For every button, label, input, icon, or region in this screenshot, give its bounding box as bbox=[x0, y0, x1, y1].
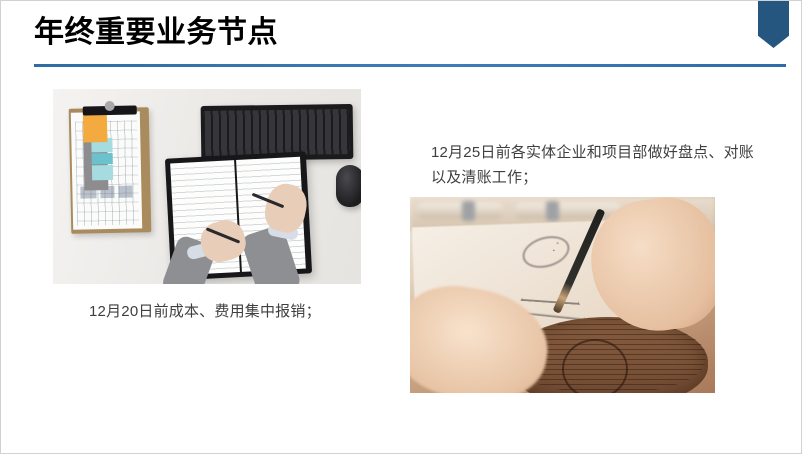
sketching-hands-photo bbox=[410, 197, 715, 393]
roll-cap bbox=[546, 201, 559, 221]
blueprint-block bbox=[118, 186, 132, 198]
keyboard-keys bbox=[205, 109, 350, 156]
clipboard-object bbox=[69, 107, 152, 234]
left-caption-text: 12月20日前成本、费用集中报销； bbox=[89, 299, 379, 324]
roll-cap bbox=[462, 201, 475, 221]
desk-workspace-photo bbox=[53, 89, 361, 284]
sticky-note-cyan bbox=[92, 153, 113, 164]
paper-roll bbox=[514, 203, 622, 219]
slide-canvas: 年终重要业务节点 bbox=[0, 0, 802, 454]
sticky-note-orange bbox=[83, 114, 108, 142]
sketched-circle bbox=[562, 339, 628, 393]
mouse-object bbox=[336, 165, 361, 207]
sticky-note-cyan bbox=[92, 165, 113, 180]
right-caption-text: 12月25日前各实体企业和项目部做好盘点、对账以及清账工作； bbox=[431, 140, 761, 190]
paper-roll bbox=[416, 203, 504, 219]
title-divider bbox=[34, 64, 786, 67]
page-title: 年终重要业务节点 bbox=[34, 13, 278, 53]
bookmark-ribbon-icon bbox=[758, 1, 789, 48]
